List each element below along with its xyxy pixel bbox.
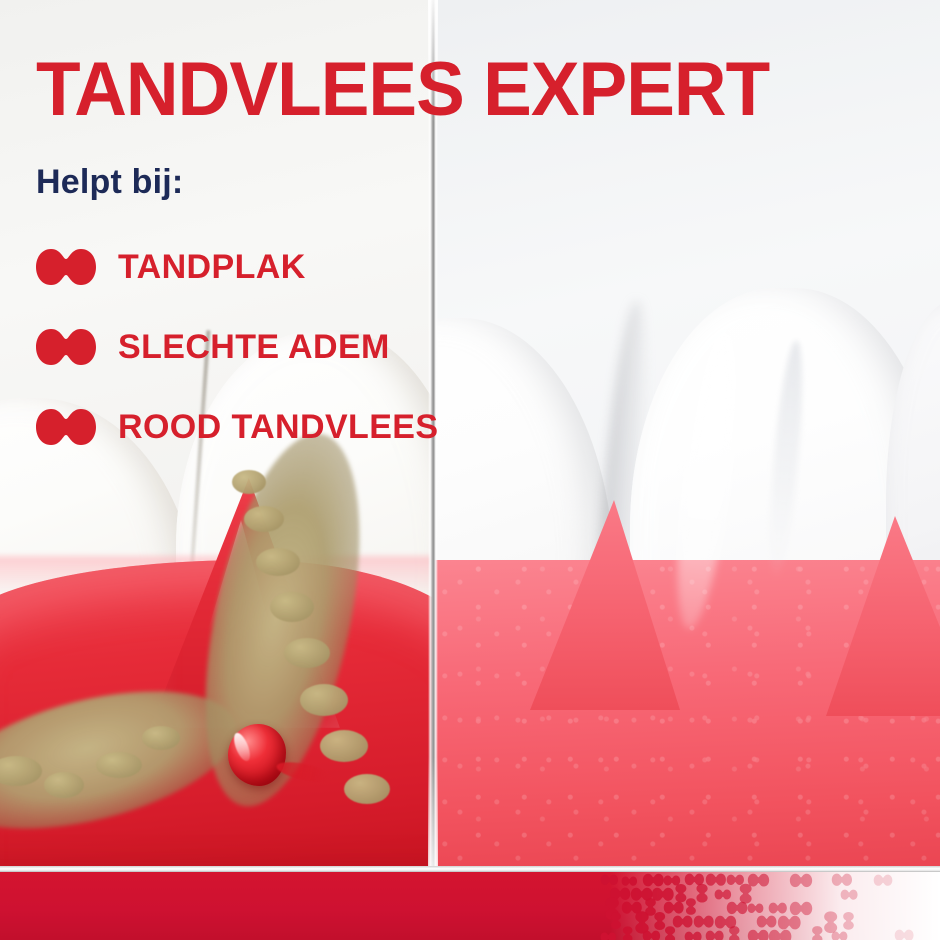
benefit-label: TANDPLAK	[118, 248, 306, 287]
peanut-dissolve-dot	[693, 915, 714, 928]
peanut-dissolve-dot	[768, 901, 788, 913]
peanut-dissolve-dot	[666, 926, 677, 940]
ad-creative: TANDVLEES EXPERT Helpt bij: TANDPLAK SLE…	[0, 0, 940, 940]
peanut-dissolve-dot	[747, 929, 769, 940]
list-item: ROOD TANDVLEES	[34, 396, 438, 458]
peanut-dissolve-dot	[777, 915, 801, 930]
peanut-dissolve-dot	[747, 901, 764, 912]
peanut-dissolve-dot	[624, 926, 635, 940]
peanut-dissolve-dot	[642, 929, 661, 940]
peanut-dissolve-dot	[840, 887, 858, 898]
peanut-dissolve-dot	[789, 901, 813, 916]
peanut-dissolve-dot	[687, 898, 698, 916]
peanut-dissolve-dot	[600, 929, 617, 939]
peanut-dissolve-dot	[747, 873, 770, 887]
peanut-dissolve-dot	[642, 873, 665, 887]
benefit-label: ROOD TANDVLEES	[118, 408, 438, 447]
peanut-bullet-icon	[34, 327, 98, 367]
peanut-dissolve-dot	[714, 887, 732, 898]
copy-block: TANDVLEES EXPERT Helpt bij: TANDPLAK SLE…	[0, 0, 940, 880]
peanut-dissolve-dot	[768, 929, 792, 940]
peanut-dissolve-dot	[705, 873, 727, 886]
peanut-dissolve-dot	[894, 929, 914, 940]
peanut-dissolve-dot	[730, 925, 742, 940]
peanut-dissolve-dot	[873, 873, 893, 885]
benefit-label: SLECHTE ADEM	[118, 328, 390, 367]
peanut-dissolve-dot	[621, 873, 638, 883]
peanut-dissolve-dot	[844, 911, 856, 930]
peanut-dissolve-dot	[705, 929, 724, 940]
pixel-dissolve-pattern	[600, 872, 940, 940]
peanut-bullet-icon	[34, 247, 98, 287]
peanut-bullet-icon	[34, 407, 98, 447]
peanut-dissolve-dot	[663, 901, 684, 914]
peanut-dissolve-dot	[726, 901, 748, 915]
benefits-list: TANDPLAK SLECHTE ADEM ROOD TANDVLEES	[34, 236, 438, 476]
page-title: TANDVLEES EXPERT	[36, 52, 769, 128]
peanut-dissolve-dot	[789, 873, 813, 888]
peanut-dissolve-dot	[831, 873, 853, 887]
peanut-dissolve-dot	[814, 925, 826, 940]
list-item: SLECHTE ADEM	[34, 316, 438, 378]
peanut-dissolve-dot	[684, 929, 702, 940]
list-item: TANDPLAK	[34, 236, 438, 298]
subtitle: Helpt bij:	[36, 163, 183, 202]
peanut-dissolve-dot	[756, 915, 777, 928]
peanut-dissolve-dot	[600, 873, 619, 885]
peanut-dissolve-dot	[831, 929, 848, 940]
